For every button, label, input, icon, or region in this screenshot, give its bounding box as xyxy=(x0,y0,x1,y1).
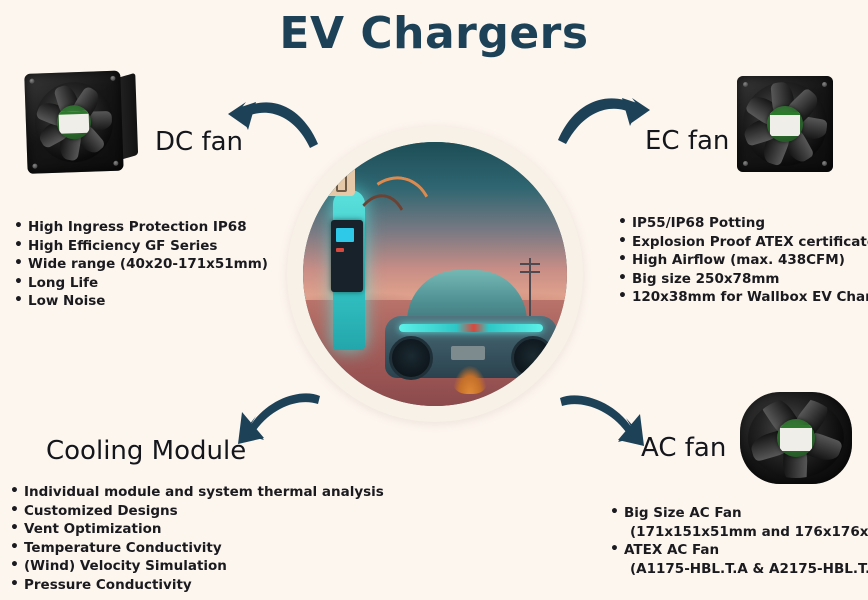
list-item: IP55/IP68 Potting xyxy=(616,214,868,233)
car-license-plate xyxy=(451,346,485,360)
bullet-subtext: (171x151x51mm and 176x176x89mm) xyxy=(624,523,868,542)
desert-bush xyxy=(453,366,487,394)
ac-fan-frame xyxy=(740,392,852,484)
curved-arrow-up-right-icon xyxy=(556,82,656,152)
dc-fan-image xyxy=(24,70,138,178)
bullet-text: Low Noise xyxy=(28,293,105,309)
bullet-list-cooling-module: Individual module and system thermal ana… xyxy=(8,483,384,595)
list-item: Big size 250x78mm xyxy=(616,270,868,289)
list-item: Wide range (40x20-171x51mm) xyxy=(12,255,268,274)
list-item: High Airflow (max. 438CFM) xyxy=(616,251,868,270)
ac-fan-hub-label xyxy=(777,419,815,457)
section-heading-cooling-module: Cooling Module xyxy=(46,436,246,466)
dc-fan-bore xyxy=(34,81,115,164)
bullet-text: Customized Designs xyxy=(24,503,178,519)
section-heading-dc-fan: DC fan xyxy=(155,127,243,157)
ac-fan-image xyxy=(740,392,852,484)
bullet-text: 120x38mm for Wallbox EV Chargers xyxy=(632,289,868,305)
section-heading-ac-fan: AC fan xyxy=(641,433,726,463)
ec-fan-bore xyxy=(743,82,827,166)
electric-car xyxy=(385,270,557,378)
list-item: Temperature Conductivity xyxy=(8,539,384,558)
car-wheel-right xyxy=(511,336,555,380)
bullet-text: (Wind) Velocity Simulation xyxy=(24,558,227,574)
ec-fan-hub-label xyxy=(767,106,803,142)
list-item: Low Noise xyxy=(12,292,268,311)
bullet-text: Wide range (40x20-171x51mm) xyxy=(28,256,268,272)
bullet-text: Big Size AC Fan xyxy=(624,505,742,521)
bullet-list-ec-fan: IP55/IP68 Potting Explosion Proof ATEX c… xyxy=(616,214,868,307)
list-item: ATEX AC Fan (A1175-HBL.T.A & A2175-HBL.T… xyxy=(608,541,868,578)
list-item: High Efficiency GF Series xyxy=(12,237,268,256)
section-heading-ec-fan: EC fan xyxy=(645,126,729,156)
list-item: Pressure Conductivity xyxy=(8,576,384,595)
list-item: High Ingress Protection IP68 xyxy=(12,218,268,237)
bullet-text: High Efficiency GF Series xyxy=(28,238,217,254)
list-item: (Wind) Velocity Simulation xyxy=(8,557,384,576)
bullet-text: Big size 250x78mm xyxy=(632,271,779,287)
ac-fan-bore xyxy=(748,398,844,478)
dc-fan-frame xyxy=(24,71,123,174)
bullet-text: High Airflow (max. 438CFM) xyxy=(632,252,845,268)
bullet-list-ac-fan: Big Size AC Fan (171x151x51mm and 176x17… xyxy=(608,504,868,578)
infographic-canvas: EV Chargers xyxy=(0,0,868,600)
bullet-list-dc-fan: High Ingress Protection IP68 High Effici… xyxy=(12,218,268,311)
list-item: Vent Optimization xyxy=(8,520,384,539)
charger-head-icon xyxy=(325,166,355,196)
bullet-text: Temperature Conductivity xyxy=(24,540,222,556)
page-title: EV Chargers xyxy=(0,8,868,59)
list-item: Big Size AC Fan (171x151x51mm and 176x17… xyxy=(608,504,868,541)
center-image-frame xyxy=(287,126,583,422)
list-item: Explosion Proof ATEX certificate xyxy=(616,233,868,252)
bullet-text: High Ingress Protection IP68 xyxy=(28,219,247,235)
list-item: Individual module and system thermal ana… xyxy=(8,483,384,502)
bullet-text: Long Life xyxy=(28,275,98,291)
bullet-text: Explosion Proof ATEX certificate xyxy=(632,234,868,250)
bullet-text: Pressure Conductivity xyxy=(24,577,192,593)
list-item: 120x38mm for Wallbox EV Chargers xyxy=(616,288,868,307)
list-item: Long Life xyxy=(12,274,268,293)
ec-fan-frame xyxy=(737,76,833,172)
list-item: Customized Designs xyxy=(8,502,384,521)
bullet-text: IP55/IP68 Potting xyxy=(632,215,765,231)
bullet-text: Vent Optimization xyxy=(24,521,161,537)
car-light-bar xyxy=(399,324,543,332)
ec-fan-image xyxy=(737,76,833,172)
bullet-text: Individual module and system thermal ana… xyxy=(24,484,384,500)
bullet-subtext: (A1175-HBL.T.A & A2175-HBL.T.A) xyxy=(624,560,868,579)
car-wheel-left xyxy=(389,336,433,380)
ev-charging-photo xyxy=(303,142,567,406)
bullet-text: ATEX AC Fan xyxy=(624,542,719,558)
